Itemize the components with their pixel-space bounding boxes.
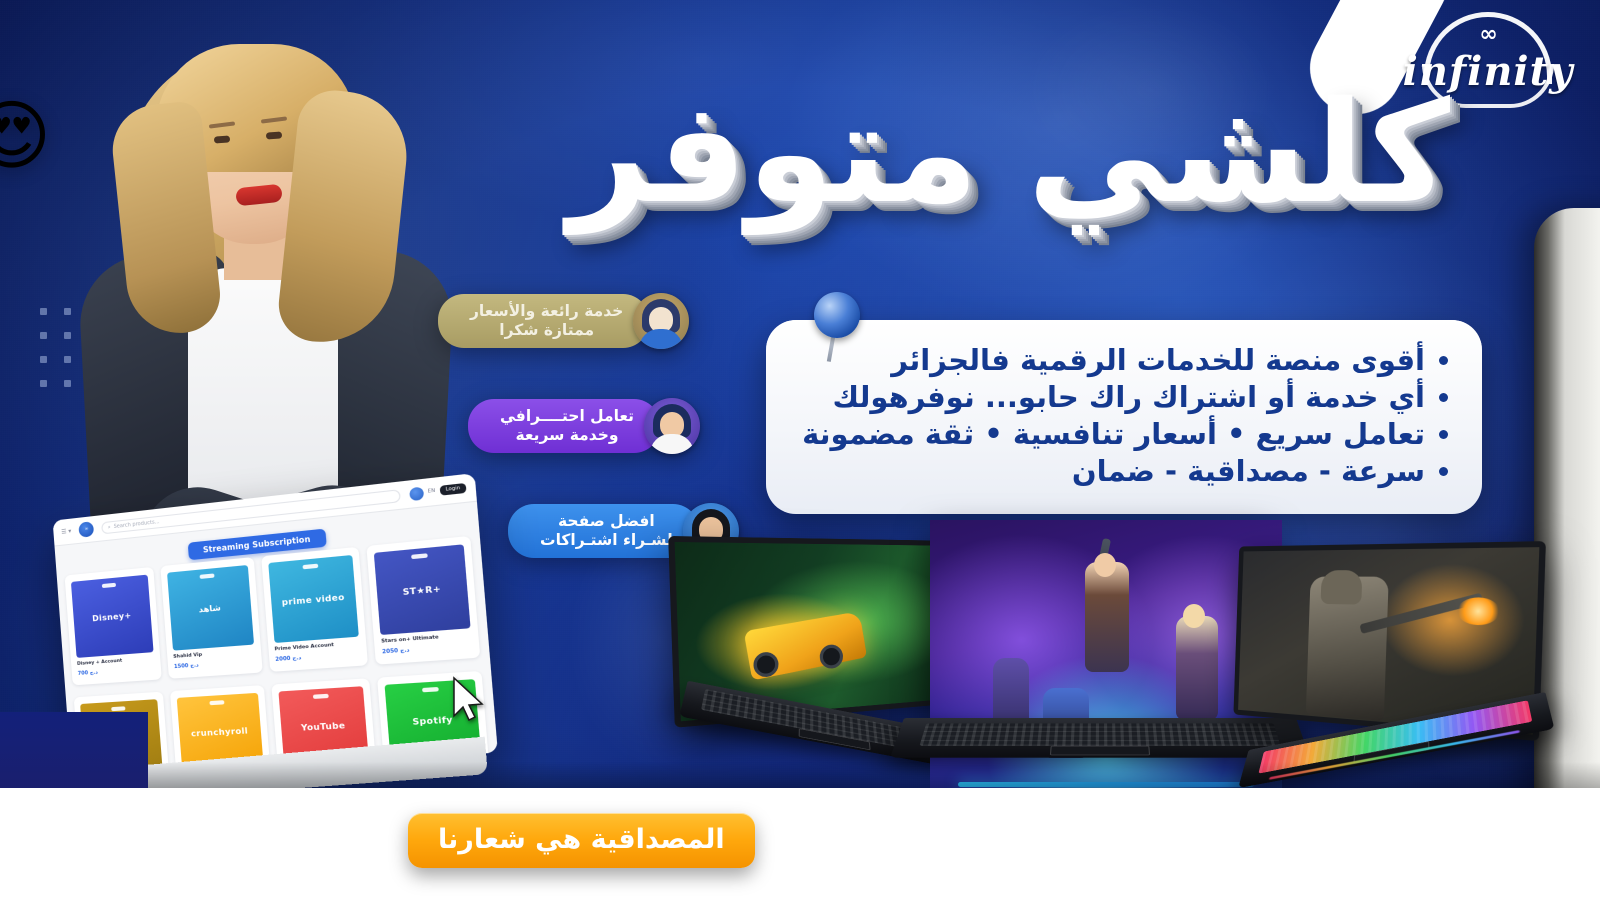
page-title: كلشي متوفر — [568, 84, 1450, 224]
product-price: 2050 د.ج — [382, 643, 472, 656]
infinity-symbol-icon: ∞ — [1479, 22, 1496, 47]
bullet-dot-icon — [1439, 430, 1448, 439]
hamburger-icon[interactable]: ☰ ▾ — [61, 528, 72, 536]
language-selector[interactable]: EN — [428, 489, 436, 495]
laptop-screen — [930, 520, 1270, 716]
search-icon: ⌕ — [108, 524, 111, 530]
product-artwork: ST★R+ — [374, 544, 471, 635]
bottom-white-band — [0, 788, 1600, 900]
bottom-band-accent — [0, 712, 148, 788]
feature-text: أقوى منصة للخدمات الرقمية فالجزائر — [800, 342, 1425, 379]
slogan-badge: المصداقية هي شعارنا — [408, 813, 755, 868]
features-list: أقوى منصة للخدمات الرقمية فالجزائر أي خد… — [800, 342, 1448, 490]
cart-icon[interactable] — [409, 486, 424, 501]
list-item: سرعة - مصداقية - ضمان — [800, 453, 1448, 490]
product-artwork: prime video — [268, 555, 359, 643]
band-shadow — [0, 762, 1600, 788]
man-avatar — [644, 398, 700, 454]
product-brand: Spotify — [412, 714, 453, 726]
product-artwork: شاهد — [167, 565, 254, 651]
woman-avatar — [633, 293, 689, 349]
testimonial-text: خدمة رائعة والأسعار ممتازة شكرا — [438, 294, 649, 349]
fortnite-artwork — [930, 520, 1270, 716]
push-pin-icon — [806, 292, 868, 362]
product-price: 1500 د.ج — [174, 658, 255, 670]
gaming-laptop-right — [1231, 546, 1559, 797]
product-brand: YouTube — [301, 720, 346, 732]
product-card[interactable]: prime video Prime Video Account 2000 د.ج — [261, 547, 369, 672]
product-artwork: Disney+ — [71, 575, 153, 658]
testimonial-text: تعامل احتــــرافي وخدمة سريعة — [468, 399, 660, 454]
list-item: أقوى منصة للخدمات الرقمية فالجزائر — [800, 342, 1448, 379]
product-price: 700 د.ج — [78, 665, 155, 677]
product-card[interactable]: Disney+ Disney + Account 700 د.ج — [65, 567, 162, 686]
product-brand: ST★R+ — [402, 584, 441, 597]
product-brand: شاهد — [198, 603, 221, 614]
site-logo[interactable]: ∞ — [79, 521, 95, 538]
product-grid-row1: Disney+ Disney + Account 700 د.ج شاهد Sh… — [65, 536, 481, 686]
promo-banner: 😍 ∞ infinity كلشي متوفر — [0, 0, 1600, 900]
feature-text: أي خدمة أو اشتراك راك حابو... نوفرهولك — [800, 379, 1425, 416]
list-item: أي خدمة أو اشتراك راك حابو... نوفرهولك — [800, 379, 1448, 416]
testimonial-badge-purple: تعامل احتــــرافي وخدمة سريعة — [468, 398, 700, 454]
bullet-dot-icon — [1439, 393, 1448, 402]
search-placeholder: Search products... — [113, 518, 159, 529]
testimonial-badge-gold: خدمة رائعة والأسعار ممتازة شكرا — [438, 293, 689, 349]
product-brand: Disney+ — [92, 610, 132, 622]
bullet-dot-icon — [1439, 467, 1448, 476]
features-card: أقوى منصة للخدمات الرقمية فالجزائر أي خد… — [766, 320, 1482, 514]
feature-text: سرعة - مصداقية - ضمان — [800, 453, 1425, 490]
bullet-dot-icon — [1439, 356, 1448, 365]
feature-text: تعامل سريع • أسعار تنافسية • ثقة مضمونة — [800, 416, 1425, 453]
product-card[interactable]: شاهد Shahid Vip 1500 د.ج — [160, 557, 262, 679]
product-price: 2000 د.ج — [275, 651, 361, 663]
login-button[interactable]: Login — [439, 483, 466, 496]
list-item: تعامل سريع • أسعار تنافسية • ثقة مضمونة — [800, 416, 1448, 453]
product-brand: prime video — [281, 592, 345, 607]
product-card[interactable]: ST★R+ Stars on+ Ultimate 2050 د.ج — [367, 536, 481, 665]
product-brand: crunchyroll — [191, 726, 249, 738]
heart-eyes-emoji-icon: 😍 — [0, 98, 51, 174]
